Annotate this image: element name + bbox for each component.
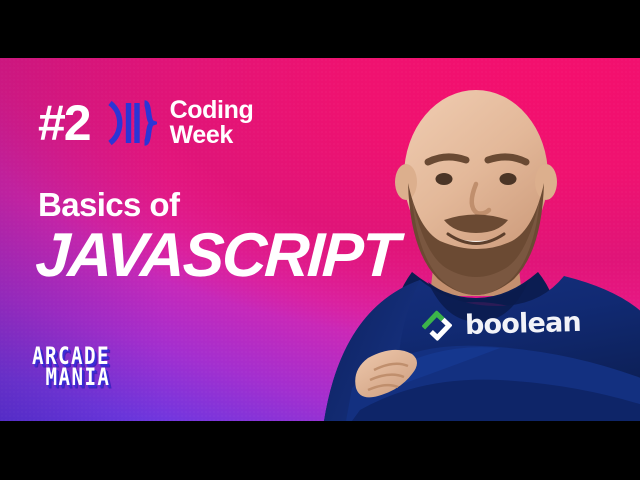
boolean-logo: boolean	[422, 307, 582, 341]
thumbnail-frame: #2 Coding Week Basics of JAVASCRIPT ARCA…	[0, 58, 640, 421]
episode-eyebrow: #2 Coding Week	[38, 96, 253, 150]
presenter-photo: boolean	[316, 58, 640, 421]
coding-week-label: Coding Week	[170, 98, 254, 149]
video-thumbnail: #2 Coding Week Basics of JAVASCRIPT ARCA…	[0, 0, 640, 480]
presenter-illustration	[316, 58, 640, 421]
letterbox-bar-bottom	[0, 421, 640, 480]
eyebrow-line-2: Week	[170, 123, 254, 149]
arcade-logo-line-2: MANIA	[32, 365, 110, 389]
boolean-diamond-mark	[422, 310, 453, 341]
boolean-wordmark: boolean	[465, 308, 582, 338]
eyebrow-line-1: Coding	[170, 98, 254, 124]
coding-week-bracket-mark	[103, 96, 157, 150]
arcade-mania-logo: ARCADE MANIA	[32, 344, 114, 385]
letterbox-bar-top	[0, 0, 640, 58]
title-kicker: Basics of	[38, 188, 179, 221]
episode-number: #2	[38, 99, 90, 147]
